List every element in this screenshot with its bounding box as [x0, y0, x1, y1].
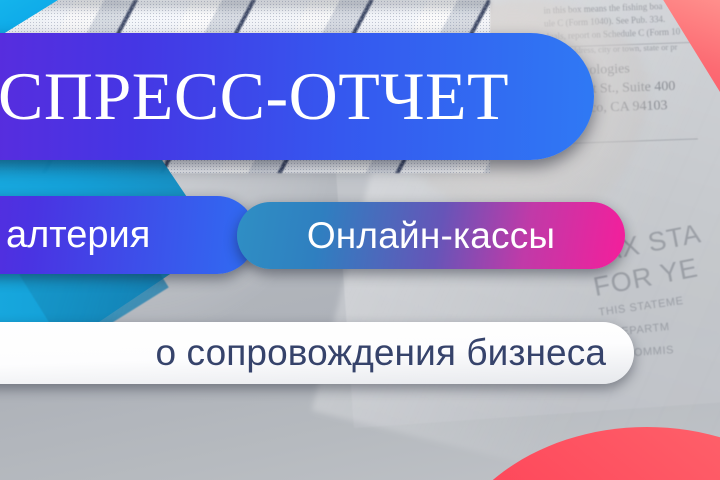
background-form-line: duals, report on Schedule C (Form 10 [544, 25, 680, 43]
subtitle-pill: о сопровождения бизнеса [0, 322, 634, 384]
tag-pill-accounting-label: алтерия [6, 214, 150, 257]
subtitle-pill-label: о сопровождения бизнеса [156, 332, 607, 374]
tag-pill-accounting: алтерия [0, 196, 256, 274]
cyan-corner-triangle-shape [0, 0, 58, 36]
title-pill-label: СПРЕСС-ОТЧЕТ [0, 57, 509, 136]
background-paper-edge-shadow [0, 0, 490, 14]
background-form-instructions: in this box means the fishing boa ule C … [543, 0, 680, 44]
coral-circle-shape [437, 427, 720, 480]
promo-banner: in this box means the fishing boa ule C … [0, 0, 720, 480]
title-pill: СПРЕСС-ОТЧЕТ [0, 33, 594, 160]
background-tax-line: COMMIS [625, 341, 720, 360]
background-form-line: ule C (Form 1040). See Pub. 334. [544, 12, 680, 30]
pink-corner-triangle-shape [654, 0, 720, 92]
tag-pill-online-cash-registers: Онлайн-кассы [237, 202, 625, 269]
background-form-line: in this box means the fishing boa [543, 0, 679, 18]
tag-pill-online-cash-registers-label: Онлайн-кассы [307, 215, 555, 257]
background-tax-line: THIS STATEME [598, 291, 714, 319]
